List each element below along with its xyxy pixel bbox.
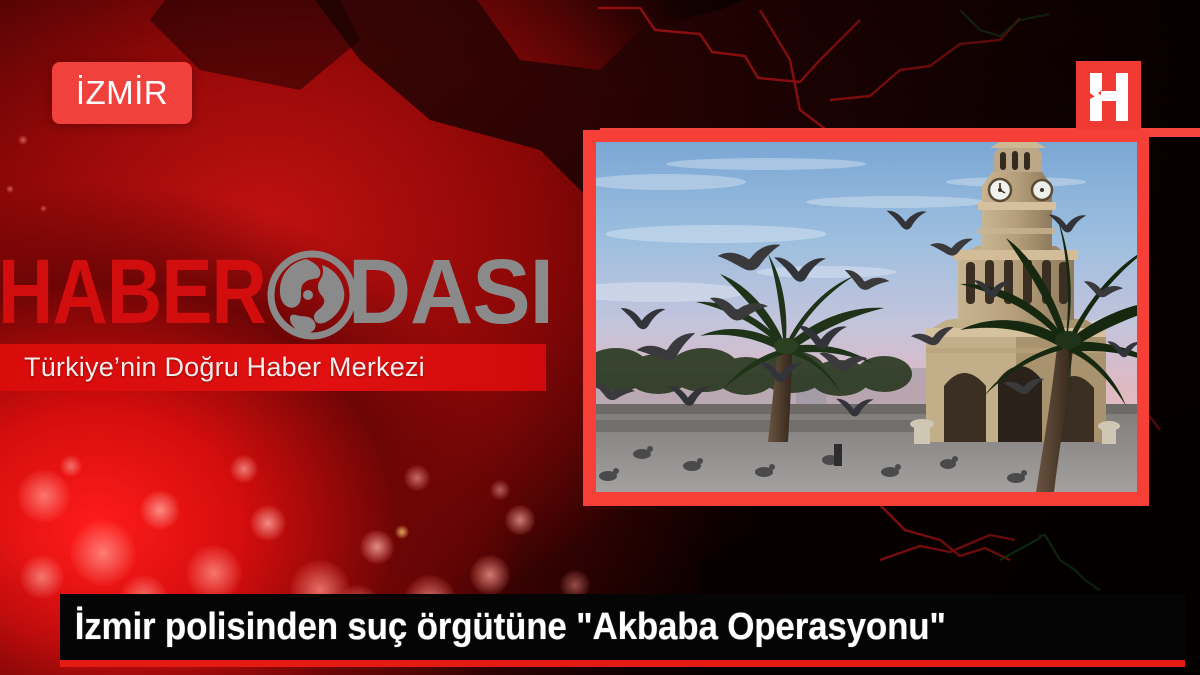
location-badge-label: İZMİR: [76, 74, 168, 112]
tagline: Türkiye’nin Doğru Haber Merkezi: [0, 344, 546, 391]
logo-text-odasi: DASI: [348, 247, 553, 343]
location-badge[interactable]: İZMİR: [52, 62, 192, 124]
news-card: İZMİR HABER DASI: [0, 0, 1200, 675]
tagline-label: Türkiye’nin Doğru Haber Merkezi: [0, 352, 425, 383]
logo-text-haber: HABER: [0, 247, 266, 343]
svg-text:HABER: HABER: [0, 247, 266, 343]
letter-h-icon: [1087, 72, 1131, 122]
svg-text:DASI: DASI: [348, 247, 553, 343]
izmir-clock-tower-photo: [596, 142, 1137, 492]
globe-icon: [271, 254, 353, 336]
headline-text: İzmir polisinden suç örgütüne "Akbaba Op…: [60, 606, 946, 649]
headline-bar: İzmir polisinden suç örgütüne "Akbaba Op…: [60, 594, 1185, 660]
site-logo[interactable]: HABER DASI: [0, 247, 556, 345]
haberodasi-h-logo[interactable]: [1076, 61, 1141, 133]
headline-underline: [60, 660, 1185, 667]
news-photo-frame[interactable]: [583, 130, 1149, 506]
